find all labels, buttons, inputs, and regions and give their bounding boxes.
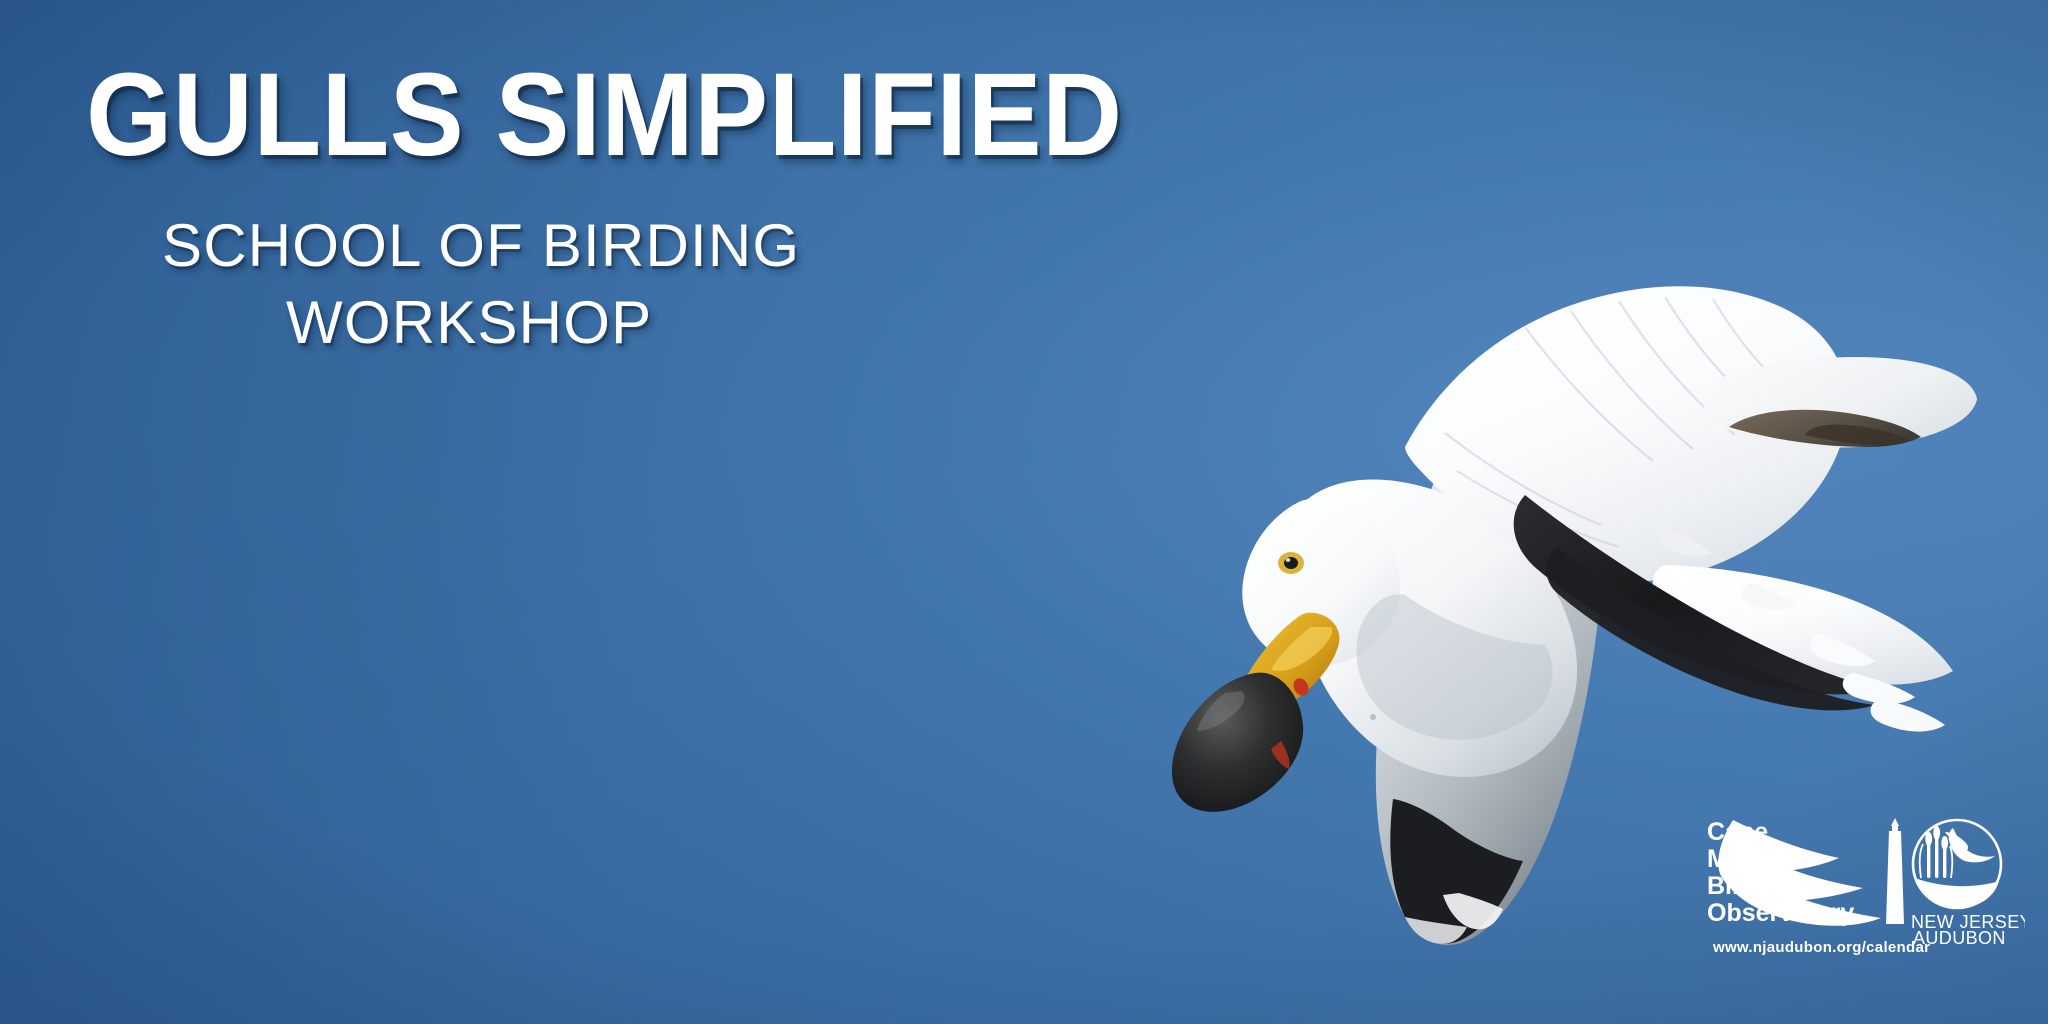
promotional-banner: GULLS SIMPLIFIED SCHOOL OF BIRDING WORKS… <box>0 0 2048 1024</box>
logo-line-may: May <box>1707 845 1756 873</box>
logo-line-bird: Bird <box>1707 872 1757 900</box>
logo-line-observatory: Observatory <box>1707 899 1854 927</box>
subtitle: SCHOOL OF BIRDING WORKSHOP <box>86 208 1120 362</box>
page-title: GULLS SIMPLIFIED <box>86 56 1058 174</box>
lighthouse-icon <box>1886 818 1904 924</box>
cmbo-nj-audubon-logo: Cape May Bird Observatory <box>1705 806 2025 956</box>
gull-eye-highlight <box>1286 558 1291 562</box>
title-block: GULLS SIMPLIFIED SCHOOL OF BIRDING WORKS… <box>0 0 1120 362</box>
logo-line-cape: Cape <box>1707 818 1768 846</box>
subtitle-line-1: SCHOOL OF BIRDING <box>86 208 1120 285</box>
logo-url[interactable]: www.njaudubon.org/calendar <box>1712 939 1930 956</box>
gull-body-fleck <box>1370 714 1376 720</box>
subtitle-line-2: WORKSHOP <box>86 285 1120 362</box>
nj-audubon-emblem <box>1913 820 2001 908</box>
gull-primary-mirror-3 <box>1871 699 1946 732</box>
